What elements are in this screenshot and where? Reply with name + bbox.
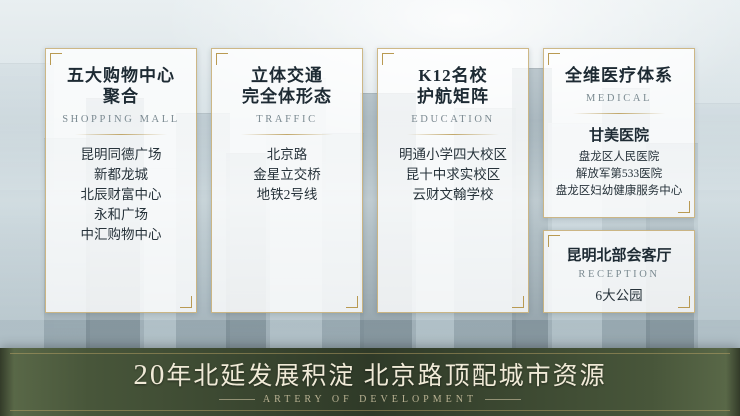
card-shopping-mall[interactable]: 五大购物中心 聚合 SHOPPING MALL 昆明同德广场 新都龙城 北辰财富… (45, 48, 197, 313)
card-item-list: 昆明同德广场 新都龙城 北辰财富中心 永和广场 中汇购物中心 (54, 145, 188, 245)
card-item-list: 盘龙区人民医院 解放军第533医院 盘龙区妇幼健康服务中心 (552, 149, 686, 200)
card-subtitle: RECEPTION (552, 269, 686, 280)
banner-number: 20 (133, 359, 166, 391)
card-subtitle: MEDICAL (552, 93, 686, 104)
banner-content: 20年北延发展积淀 北京路顶配城市资源 ARTERY OF DEVELOPMEN… (10, 353, 730, 411)
card-highlight: 甘美医院 (552, 124, 686, 145)
card-column-right: 全维医疗体系 MEDICAL 甘美医院 盘龙区人民医院 解放军第533医院 盘龙… (543, 48, 695, 313)
footer-banner: 20年北延发展积淀 北京路顶配城市资源 ARTERY OF DEVELOPMEN… (0, 348, 740, 416)
card-title: K12名校 护航矩阵 (386, 65, 520, 107)
feature-card-group: 五大购物中心 聚合 SHOPPING MALL 昆明同德广场 新都龙城 北辰财富… (0, 48, 740, 313)
card-reception[interactable]: 昆明北部会客厅 RECEPTION 6大公园 (543, 230, 695, 313)
banner-headline: 20年北延发展积淀 北京路顶配城市资源 (133, 360, 606, 392)
card-title: 立体交通 完全体形态 (220, 65, 354, 107)
banner-headline-text: 年北延发展积淀 北京路顶配城市资源 (166, 363, 606, 390)
banner-dash-left (219, 399, 255, 400)
card-divider (407, 134, 499, 135)
card-item-list: 6大公园 (552, 286, 686, 306)
card-item-list: 明通小学四大校区 昆十中求实校区 云财文翰学校 (386, 145, 520, 205)
banner-dash-right (485, 399, 521, 400)
poster-page: 五大购物中心 聚合 SHOPPING MALL 昆明同德广场 新都龙城 北辰财富… (0, 0, 740, 416)
banner-subline: ARTERY OF DEVELOPMENT (219, 394, 521, 405)
card-divider (241, 134, 333, 135)
card-traffic[interactable]: 立体交通 完全体形态 TRAFFIC 北京路 金星立交桥 地铁2号线 (211, 48, 363, 313)
card-title: 全维医疗体系 (552, 65, 686, 86)
banner-subline-text: ARTERY OF DEVELOPMENT (263, 394, 477, 405)
card-subtitle: EDUCATION (386, 114, 520, 125)
card-divider (75, 134, 167, 135)
card-subtitle: SHOPPING MALL (54, 114, 188, 125)
card-divider (573, 113, 665, 114)
card-item-list: 北京路 金星立交桥 地铁2号线 (220, 145, 354, 205)
card-subtitle: TRAFFIC (220, 114, 354, 125)
card-education[interactable]: K12名校 护航矩阵 EDUCATION 明通小学四大校区 昆十中求实校区 云财… (377, 48, 529, 313)
card-medical[interactable]: 全维医疗体系 MEDICAL 甘美医院 盘龙区人民医院 解放军第533医院 盘龙… (543, 48, 695, 218)
card-title: 昆明北部会客厅 (552, 244, 686, 265)
card-title: 五大购物中心 聚合 (54, 65, 188, 107)
